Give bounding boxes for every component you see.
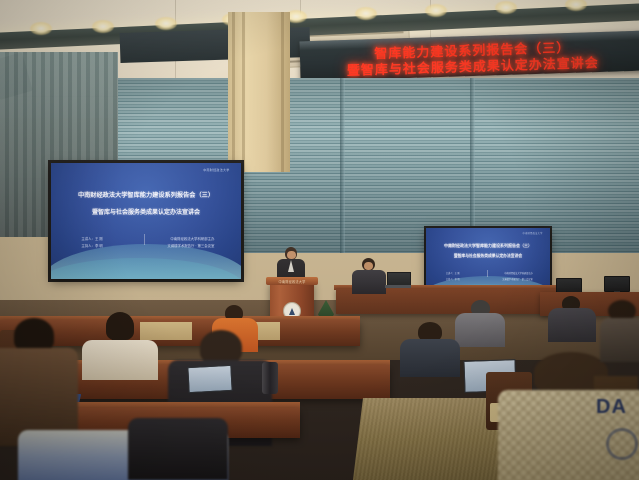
downlight-icon xyxy=(425,4,447,17)
right-slide-meta: 主讲人：王 刚 主持人：李 明 中南财经政法大学科研部主办 文澜楼学术报告厅 ·… xyxy=(446,271,533,281)
attendee-cream-coat xyxy=(82,312,158,374)
left-slide: 中南财经政法大学 中南财经政法大学智库能力建设系列报告会（三） 暨智库与社会服务… xyxy=(51,163,241,279)
left-slide-meta-right-1: 中南财经政法大学科研部主办 xyxy=(167,236,214,241)
jacket-lettering: DA xyxy=(596,396,627,419)
jacket-graphic-icon xyxy=(606,428,638,460)
presenter-laptop xyxy=(385,272,411,288)
left-slide-meta-left-1: 主讲人：王 刚 xyxy=(81,236,102,241)
right-slide-meta-left-2: 主持人：李 明 xyxy=(446,277,460,281)
vacuum-flask xyxy=(262,362,278,394)
attendee-laptop xyxy=(187,365,232,393)
left-slide-title-1: 中南财经政法大学智库能力建设系列报告会（三） xyxy=(51,190,241,199)
attendee-dark-coat xyxy=(548,296,596,340)
left-slide-meta-right-2: 文澜楼学术报告厅 · 第三会议室 xyxy=(167,243,214,248)
downlight-icon xyxy=(355,7,377,20)
left-slide-meta: 主讲人：王 刚 主持人：李 明 中南财经政法大学科研部主办 文澜楼学术报告厅 ·… xyxy=(81,236,214,248)
attendee-navy-jacket xyxy=(400,322,460,374)
slat-wall-divider xyxy=(340,78,345,253)
left-slide-logo: 中南财经政法大学 xyxy=(203,168,229,172)
downlight-icon xyxy=(92,20,114,33)
attendee-brown-coat xyxy=(0,318,78,442)
seated-host xyxy=(352,258,386,292)
attendee-grey-jacket xyxy=(455,300,505,344)
left-slide-meta-left-2: 主持人：李 明 xyxy=(81,243,102,248)
desk-monitor xyxy=(604,276,630,292)
right-slide-meta-right-2: 文澜楼学术报告厅 · 第三会议室 xyxy=(502,277,532,281)
attendee-black-hoodie-foreground xyxy=(128,418,228,480)
right-slide-title-2: 暨智库与社会服务类成果认定办法宣讲会 xyxy=(426,254,550,259)
left-projection-screen[interactable]: 中南财经政法大学 中南财经政法大学智库能力建设系列报告会（三） 暨智库与社会服务… xyxy=(51,163,241,279)
downlight-icon xyxy=(155,17,177,30)
attendee-far-right xyxy=(600,300,639,360)
wall-pillar xyxy=(228,12,290,172)
right-slide-meta-right-1: 中南财经政法大学科研部主办 xyxy=(502,271,532,275)
right-slide-logo: 中南财经政法大学 xyxy=(523,231,543,235)
right-slide-meta-left-1: 主讲人：王 刚 xyxy=(446,271,460,275)
lectern-nameplate: 中南财经政法大学 xyxy=(268,279,316,284)
downlight-icon xyxy=(495,1,517,14)
downlight-icon xyxy=(30,22,52,35)
conference-hall-photo: 智库能力建设系列报告会（三） 暨智库与社会服务类成果认定办法宣讲会 中南财经政法… xyxy=(0,0,639,480)
right-slide-title-1: 中南财经政法大学智库能力建设系列报告会（三） xyxy=(426,243,550,249)
left-slide-title-2: 暨智库与社会服务类成果认定办法宣讲会 xyxy=(51,207,241,216)
